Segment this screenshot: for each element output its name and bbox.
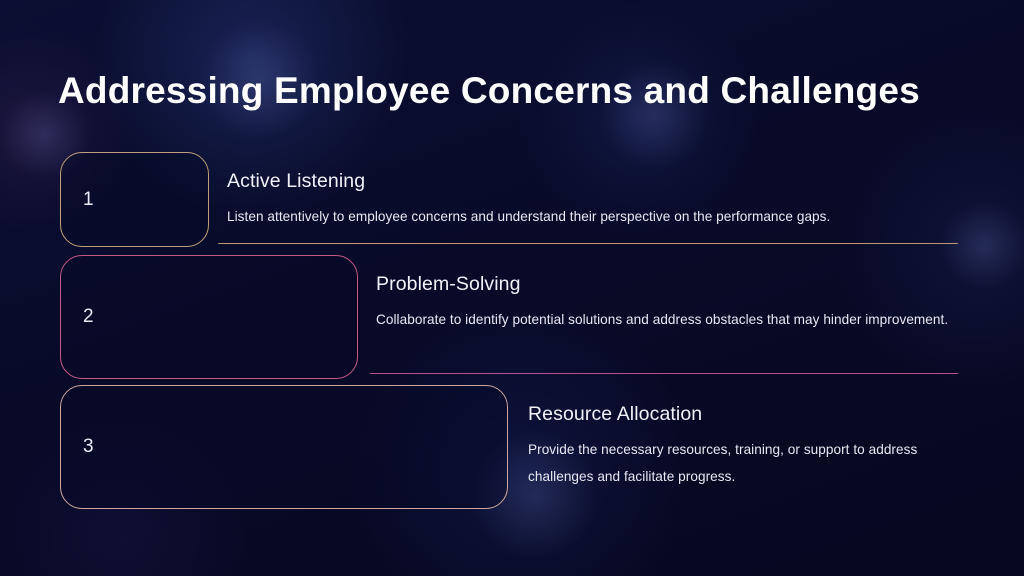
step-number-box-1[interactable]: 1 bbox=[60, 152, 209, 247]
step-heading-2: Problem-Solving bbox=[376, 273, 952, 296]
step-text-3: Resource Allocation Provide the necessar… bbox=[528, 403, 928, 490]
step-number-box-2[interactable]: 2 bbox=[60, 255, 358, 379]
step-number-box-3[interactable]: 3 bbox=[60, 385, 508, 509]
step-description-2: Collaborate to identify potential soluti… bbox=[376, 307, 952, 334]
step-number-3: 3 bbox=[83, 436, 94, 458]
slide-canvas: Addressing Employee Concerns and Challen… bbox=[0, 0, 1024, 576]
step-divider-2 bbox=[370, 373, 958, 374]
step-description-1: Listen attentively to employee concerns … bbox=[227, 204, 947, 231]
step-number-2: 2 bbox=[83, 306, 94, 328]
step-divider-1 bbox=[218, 243, 958, 244]
step-text-2: Problem-Solving Collaborate to identify … bbox=[376, 273, 952, 334]
page-title: Addressing Employee Concerns and Challen… bbox=[58, 70, 920, 112]
background-glow-speck bbox=[940, 200, 1024, 290]
step-heading-3: Resource Allocation bbox=[528, 403, 928, 426]
step-text-1: Active Listening Listen attentively to e… bbox=[227, 170, 947, 231]
step-heading-1: Active Listening bbox=[227, 170, 947, 193]
step-number-1: 1 bbox=[83, 189, 94, 211]
step-description-3: Provide the necessary resources, trainin… bbox=[528, 437, 928, 490]
